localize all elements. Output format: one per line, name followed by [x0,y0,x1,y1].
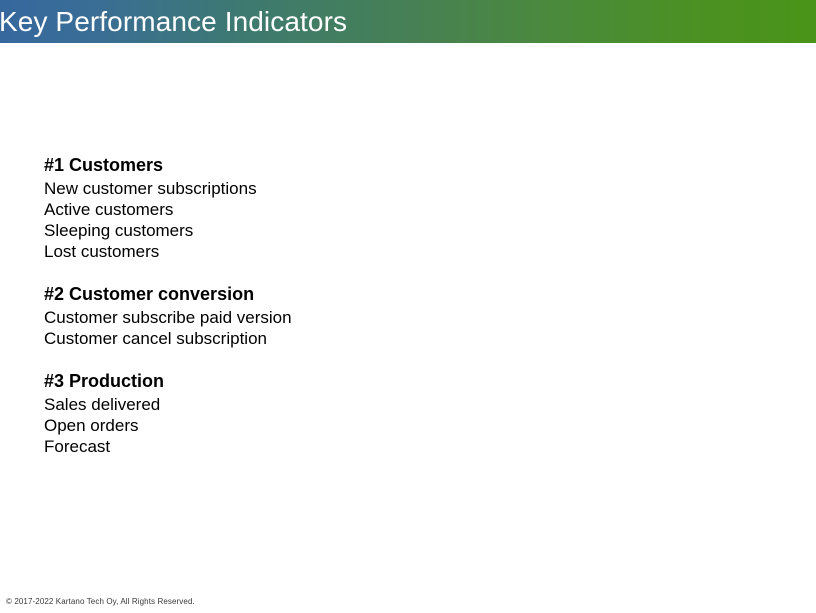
kpi-group-heading: #2 Customer conversion [44,284,764,305]
list-item: Forecast [44,436,764,457]
kpi-list: New customer subscriptions Active custom… [44,178,764,262]
list-item: Customer cancel subscription [44,328,764,349]
slide-title-bar: Key Performance Indicators [0,0,816,43]
kpi-group-3: #3 Production Sales delivered Open order… [44,371,764,457]
list-item: Sleeping customers [44,220,764,241]
list-item: New customer subscriptions [44,178,764,199]
kpi-group-2: #2 Customer conversion Customer subscrib… [44,284,764,349]
copyright-footer: © 2017-2022 Kartano Tech Oy, All Rights … [6,597,195,606]
list-item: Sales delivered [44,394,764,415]
page-title: Key Performance Indicators [0,8,347,36]
kpi-content: #1 Customers New customer subscriptions … [44,155,764,457]
kpi-group-heading: #1 Customers [44,155,764,176]
list-item: Active customers [44,199,764,220]
kpi-list: Customer subscribe paid version Customer… [44,307,764,349]
kpi-group-1: #1 Customers New customer subscriptions … [44,155,764,262]
list-item: Lost customers [44,241,764,262]
kpi-group-heading: #3 Production [44,371,764,392]
kpi-list: Sales delivered Open orders Forecast [44,394,764,457]
list-item: Customer subscribe paid version [44,307,764,328]
list-item: Open orders [44,415,764,436]
